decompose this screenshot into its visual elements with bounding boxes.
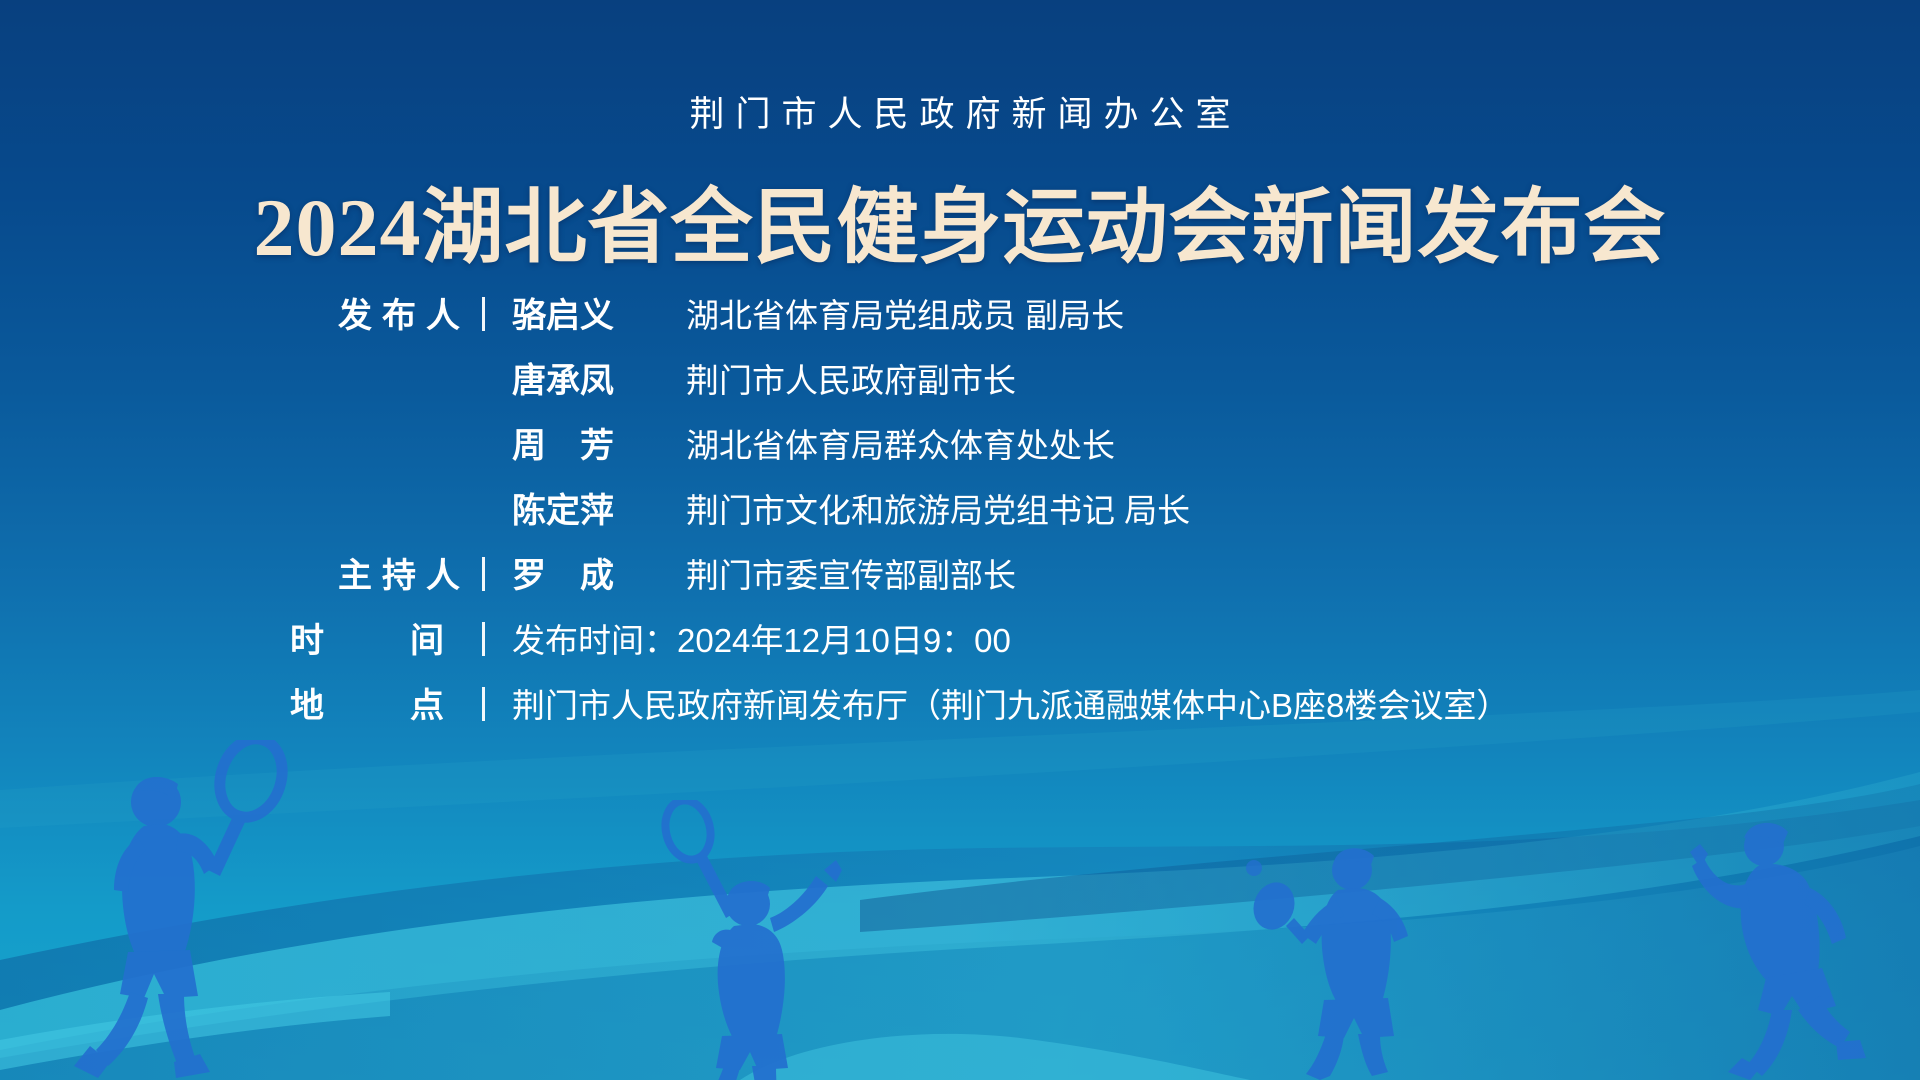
host-label: 主持人 [0,548,470,597]
poster-canvas: 荆门市人民政府新闻办公室 2024湖北省全民健身运动会新闻发布会 发布人 骆启义… [0,0,1920,1080]
poster-content: 荆门市人民政府新闻办公室 2024湖北省全民健身运动会新闻发布会 发布人 骆启义… [0,0,1920,1080]
row-divider [470,297,496,331]
host-name: 罗 成 [512,548,662,597]
time-value: 发布时间：2024年12月10日9：00 [512,614,1011,662]
info-block: 发布人 骆启义 湖北省体育局党组成员 副局长 发布人 唐承凤 荆门市人民政府副市… [0,288,1920,743]
speaker-row: 发布人 唐承凤 荆门市人民政府副市长 [0,353,1920,405]
row-divider [470,687,496,721]
time-row: 时 间 发布时间：2024年12月10日9：00 [0,613,1920,665]
speaker-role: 荆门市人民政府副市长 [686,354,1016,402]
organizer-line: 荆门市人民政府新闻办公室 [0,86,1920,137]
speaker-name: 唐承凤 [512,353,662,402]
row-divider [470,622,496,656]
speaker-role: 荆门市文化和旅游局党组书记 局长 [686,484,1190,532]
time-label: 时 间 [0,613,470,662]
place-value: 荆门市人民政府新闻发布厅（荆门九派通融媒体中心B座8楼会议室） [512,679,1509,727]
row-divider-blank [470,492,496,526]
place-label: 地 点 [0,678,470,727]
speaker-name: 陈定萍 [512,483,662,532]
row-divider-blank [470,362,496,396]
host-row: 主持人 罗 成 荆门市委宣传部副部长 [0,548,1920,600]
speaker-role: 湖北省体育局群众体育处处长 [686,419,1115,467]
speaker-name: 骆启义 [512,288,662,337]
place-row: 地 点 荆门市人民政府新闻发布厅（荆门九派通融媒体中心B座8楼会议室） [0,678,1920,730]
speaker-role: 湖北省体育局党组成员 副局长 [686,289,1124,337]
page-title: 2024湖北省全民健身运动会新闻发布会 [0,160,1920,279]
host-role: 荆门市委宣传部副部长 [686,549,1016,597]
speaker-name: 周 芳 [512,418,662,467]
speaker-row: 发布人 骆启义 湖北省体育局党组成员 副局长 [0,288,1920,340]
row-divider-blank [470,427,496,461]
speaker-row: 发布人 陈定萍 荆门市文化和旅游局党组书记 局长 [0,483,1920,535]
speaker-row: 发布人 周 芳 湖北省体育局群众体育处处长 [0,418,1920,470]
speaker-label: 发布人 [0,288,470,337]
row-divider [470,557,496,591]
